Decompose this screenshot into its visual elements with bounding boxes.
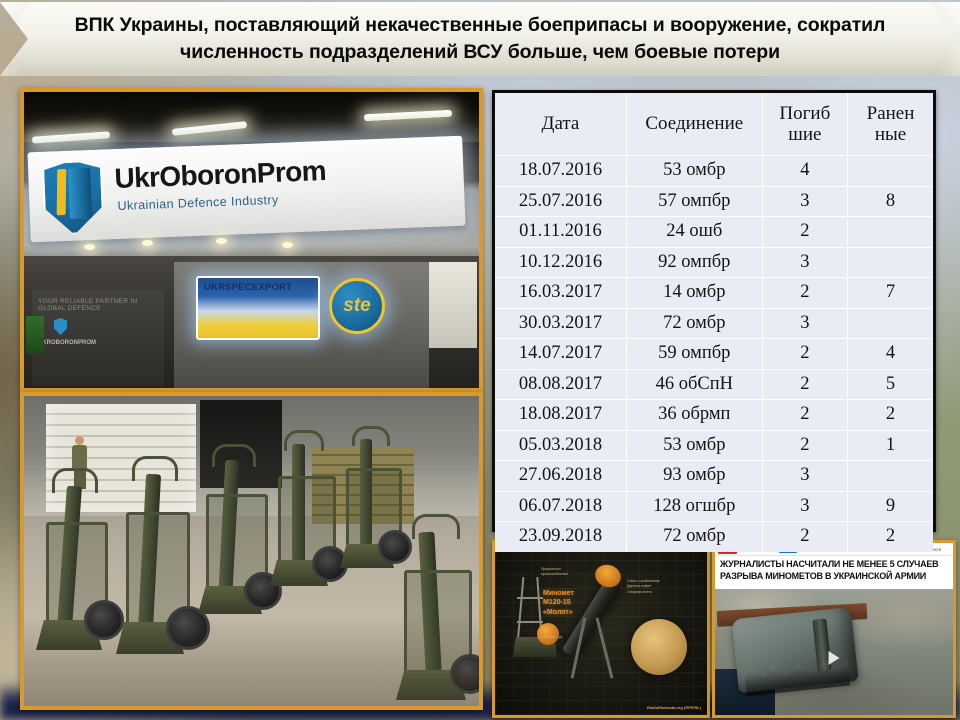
cart-wheel-highlight [537, 623, 559, 645]
column-header-wounded: Ранен ные [848, 93, 933, 156]
booth-wall-brand: UKROBORONPROM [38, 340, 96, 346]
table-row: 16.03.201714 омбр27 [495, 278, 933, 309]
booth-hex-wall: YOUR RELIABLE PARTNER IN GLOBAL DEFENCE … [32, 290, 164, 386]
cell-killed: 2 [762, 400, 847, 431]
soldier-head [75, 436, 84, 445]
column-header-wounded-line1: Ранен [867, 103, 915, 124]
cell-wounded: 2 [848, 522, 933, 552]
cell-date: 30.03.2017 [495, 308, 626, 339]
cell-killed: 4 [762, 156, 847, 187]
cell-wounded [848, 247, 933, 278]
page-title: ВПК Украины, поставляющий некачественные… [30, 12, 930, 66]
table-row: 23.09.201872 омбр22 [495, 522, 933, 552]
photo-ukroboronprom-booth: UkrOboronProm Ukrainian Defence Industry… [20, 88, 483, 392]
cell-date: 10.12.2016 [495, 247, 626, 278]
cart-crossbar [517, 597, 543, 599]
ukrspecexport-sign: UKRSPECEXPORT [196, 276, 320, 340]
cell-date: 06.07.2018 [495, 491, 626, 522]
ste-logo-icon: ste [329, 278, 385, 334]
cell-unit: 92 омпбр [626, 247, 762, 278]
cell-unit: 72 омбр [626, 308, 762, 339]
cell-killed: 3 [762, 247, 847, 278]
photo-mortar-warehouse [20, 392, 483, 710]
cell-date: 08.08.2017 [495, 369, 626, 400]
booth-right-panel [421, 262, 477, 348]
soldier-body [72, 445, 87, 470]
cell-unit: 14 омбр [626, 278, 762, 309]
cell-date: 23.09.2018 [495, 522, 626, 552]
cell-unit: 53 омбр [626, 430, 762, 461]
mortar-cart [198, 444, 278, 624]
table-row: 30.03.201772 омбр3 [495, 308, 933, 339]
warehouse-scene [24, 396, 479, 706]
booth-scene: UkrOboronProm Ukrainian Defence Industry… [24, 92, 479, 388]
cell-wounded: 4 [848, 339, 933, 370]
infographic-callout-right: Ствол с казёнником Двунога-лафет Опорная… [627, 579, 687, 595]
cell-killed: 3 [762, 308, 847, 339]
photo-tsn-news-screenshot: ТСН Україна Політика Відео Випуски ТСН Б… [712, 540, 956, 718]
booth-brand-name: UkrOboronProm [114, 155, 327, 195]
column-header-killed-line2: шие [788, 124, 821, 145]
infographic-bipod [573, 617, 615, 679]
booth-signboard: UkrOboronProm Ukrainian Defence Industry [27, 136, 465, 243]
table-row: 25.07.201657 омпбр38 [495, 186, 933, 217]
cell-date: 16.03.2017 [495, 278, 626, 309]
casualty-table: Дата Соединение Погиб шие Ранен ные 18.0… [492, 90, 936, 532]
cell-unit: 128 огшбр [626, 491, 762, 522]
cell-killed: 2 [762, 217, 847, 248]
booth-brand-tagline: Ukrainian Defence Industry [117, 193, 279, 213]
table-row: 01.11.201624 ошб2 [495, 217, 933, 248]
booth-green-stand [26, 316, 44, 354]
cell-wounded: 8 [848, 186, 933, 217]
cell-wounded [848, 217, 933, 248]
cell-unit: 93 омбр [626, 461, 762, 492]
cell-killed: 3 [762, 186, 847, 217]
warehouse-floor-shadow [24, 616, 479, 706]
cell-date: 05.03.2018 [495, 430, 626, 461]
cell-unit: 57 омпбр [626, 186, 762, 217]
table-header-row: Дата Соединение Погиб шие Ранен ные [495, 93, 933, 156]
table-row: 27.06.201893 омбр3 [495, 461, 933, 492]
news-headline-line1: ЖУРНАЛИСТЫ НАСЧИТАЛИ НЕ МЕНЕЕ 5 СЛУЧАЕВ [720, 559, 948, 571]
spotlight-icon [84, 244, 95, 250]
table-row: 10.12.201692 омпбр3 [495, 247, 933, 278]
cell-wounded [848, 308, 933, 339]
infographic-transport-cart [513, 577, 563, 667]
cell-wounded [848, 461, 933, 492]
play-button-icon[interactable] [829, 651, 840, 665]
cell-unit: 46 обСпН [626, 369, 762, 400]
news-headline: ЖУРНАЛИСТЫ НАСЧИТАЛИ НЕ МЕНЕЕ 5 СЛУЧАЕВ … [715, 556, 953, 589]
cart-crossbar [517, 621, 543, 623]
cell-date: 27.06.2018 [495, 461, 626, 492]
column-header-unit: Соединение [626, 93, 762, 156]
cell-unit: 24 ошб [626, 217, 762, 248]
cell-killed: 3 [762, 461, 847, 492]
ukrspecexport-label: UKRSPECEXPORT [204, 282, 292, 293]
cell-killed: 2 [762, 278, 847, 309]
table-row: 18.08.201736 обрмп22 [495, 400, 933, 431]
table-body: 18.07.201653 омбр425.07.201657 омпбр3801… [495, 156, 933, 552]
slide-title-banner: ВПК Украины, поставляющий некачественные… [0, 2, 960, 76]
infographic-callout-left: Прицельное приспособление [541, 567, 581, 578]
table-row: 08.08.201746 обСпН25 [495, 369, 933, 400]
spotlight-icon [282, 242, 293, 248]
cell-date: 14.07.2017 [495, 339, 626, 370]
cell-unit: 59 омпбр [626, 339, 762, 370]
cell-killed: 2 [762, 430, 847, 461]
cell-wounded [848, 156, 933, 187]
column-header-date: Дата [495, 93, 626, 156]
infographic-callout-wheel: Колёсный ход [539, 635, 575, 640]
photo-mortar-infographic: Миномет М120-15 «Молот» Прицельное присп… [492, 540, 710, 718]
table-row: 14.07.201759 омпбр24 [495, 339, 933, 370]
table-head: Дата Соединение Погиб шие Ранен ные [495, 93, 933, 156]
cell-wounded: 1 [848, 430, 933, 461]
table-row: 06.07.2018128 огшбр39 [495, 491, 933, 522]
spotlight-icon [142, 240, 153, 246]
cell-killed: 3 [762, 491, 847, 522]
cell-wounded: 5 [848, 369, 933, 400]
column-header-wounded-line2: ные [875, 124, 906, 145]
ukroboronprom-shield-icon [42, 160, 105, 236]
cell-unit: 36 обрмп [626, 400, 762, 431]
cell-date: 18.07.2016 [495, 156, 626, 187]
infographic-credit: RadioRadnoda.org (RFE/RL) [647, 705, 701, 710]
ukroboronprom-mini-shield-icon [54, 318, 67, 335]
column-header-killed: Погиб шие [762, 93, 847, 156]
cell-unit: 53 омбр [626, 156, 762, 187]
cell-unit: 72 омбр [626, 522, 762, 552]
cell-wounded: 7 [848, 278, 933, 309]
cell-date: 18.08.2017 [495, 400, 626, 431]
booth-wall-tagline: YOUR RELIABLE PARTNER IN GLOBAL DEFENCE [38, 298, 164, 312]
cell-date: 01.11.2016 [495, 217, 626, 248]
column-header-killed-line1: Погиб [779, 103, 830, 124]
table-row: 05.03.201853 омбр21 [495, 430, 933, 461]
infographic-scene: Миномет М120-15 «Молот» Прицельное присп… [495, 543, 707, 715]
infographic-baseplate [631, 619, 687, 675]
cell-killed: 2 [762, 522, 847, 552]
news-headline-line2: РАЗРЫВА МИНОМЕТОВ В УКРАИНСКОЙ АРМИИ [720, 571, 948, 583]
cell-wounded: 9 [848, 491, 933, 522]
mortar-cart [270, 430, 346, 594]
casualty-table-element: Дата Соединение Погиб шие Ранен ные 18.0… [495, 93, 933, 552]
cell-killed: 2 [762, 339, 847, 370]
cell-date: 25.07.2016 [495, 186, 626, 217]
cell-wounded: 2 [848, 400, 933, 431]
table-row: 18.07.201653 омбр4 [495, 156, 933, 187]
spotlight-icon [216, 238, 227, 244]
booth-lower-wall: YOUR RELIABLE PARTNER IN GLOBAL DEFENCE … [24, 256, 479, 388]
news-video-thumbnail[interactable] [715, 589, 953, 715]
cell-killed: 2 [762, 369, 847, 400]
